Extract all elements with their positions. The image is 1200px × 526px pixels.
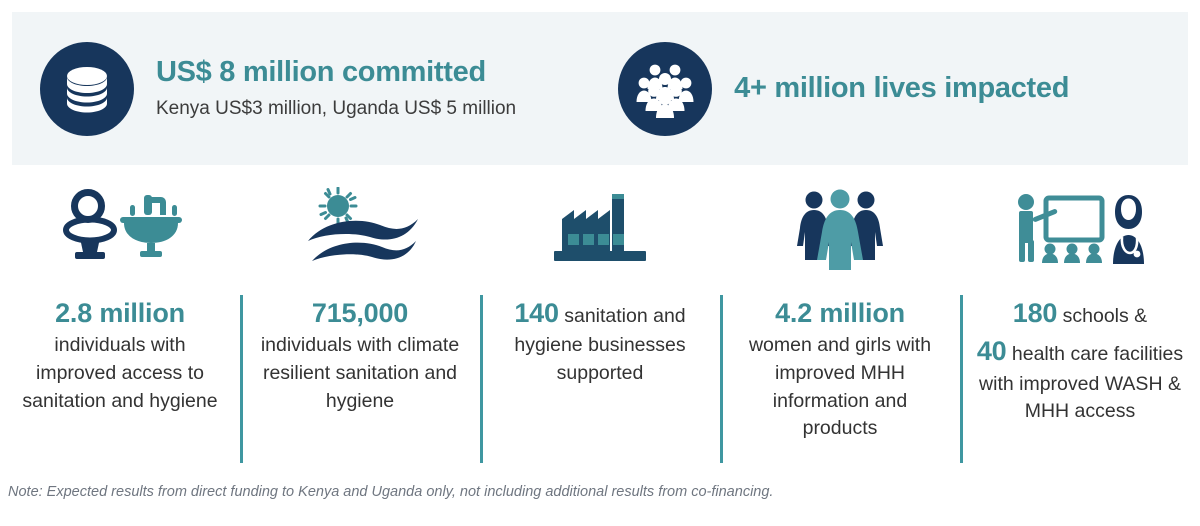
stat-description-4: women and girls with improved MHH inform… — [749, 334, 931, 439]
stat-number-3: 140 — [514, 298, 558, 328]
stat-number-5a: 180 — [1013, 298, 1057, 328]
stat-description-5a: schools & — [1057, 305, 1147, 327]
stat-description-5b: health care facilities with improved WAS… — [979, 343, 1183, 422]
teacher-and-health-worker-icon — [1010, 186, 1150, 272]
people-group-icon — [618, 42, 712, 136]
stat-text-businesses: 140 sanitation and hygiene businesses su… — [495, 294, 705, 388]
sun-and-water-icon — [290, 186, 430, 272]
footnote: Note: Expected results from direct fundi… — [8, 484, 773, 500]
stat-text-climate-resilient: 715,000 individuals with climate resilie… — [255, 294, 465, 415]
stat-description-2: individuals with climate resilient sanit… — [261, 334, 459, 411]
stat-number-4: 4.2 million — [735, 294, 945, 332]
stat-column-sanitation-access: 2.8 million individuals with improved ac… — [0, 186, 240, 471]
stat-number-5b: 40 — [977, 336, 1007, 366]
stat-description-1: individuals with improved access to sani… — [22, 334, 217, 411]
factory-icon — [544, 186, 656, 272]
infographic-root: US$ 8 million committed Kenya US$3 milli… — [0, 0, 1200, 526]
coin-stack-icon — [40, 42, 134, 136]
stat-text-schools-health: 180 schools & 40 health care facilities … — [975, 294, 1185, 426]
stat-column-climate-resilient: 715,000 individuals with climate resilie… — [240, 186, 480, 471]
women-group-icon — [788, 186, 892, 272]
header-item-lives: 4+ million lives impacted — [618, 42, 1069, 136]
stat-column-women-girls: 4.2 million women and girls with improve… — [720, 186, 960, 471]
stat-column-businesses: 140 sanitation and hygiene businesses su… — [480, 186, 720, 471]
stat-text-women-girls: 4.2 million women and girls with improve… — [735, 294, 945, 443]
header-band: US$ 8 million committed Kenya US$3 milli… — [12, 12, 1188, 165]
stat-column-schools-health: 180 schools & 40 health care facilities … — [960, 186, 1200, 471]
funding-subtext: Kenya US$3 million, Uganda US$ 5 million — [156, 98, 516, 121]
funding-headline: US$ 8 million committed — [156, 56, 516, 89]
stats-row: 2.8 million individuals with improved ac… — [0, 186, 1200, 471]
lives-headline: 4+ million lives impacted — [734, 72, 1069, 105]
stat-text-sanitation-access: 2.8 million individuals with improved ac… — [15, 294, 225, 415]
toilet-and-sink-icon — [54, 186, 186, 272]
header-item-funding: US$ 8 million committed Kenya US$3 milli… — [40, 42, 516, 136]
stat-number-1: 2.8 million — [15, 294, 225, 332]
stat-number-2: 715,000 — [255, 294, 465, 332]
funding-text-block: US$ 8 million committed Kenya US$3 milli… — [156, 56, 516, 121]
